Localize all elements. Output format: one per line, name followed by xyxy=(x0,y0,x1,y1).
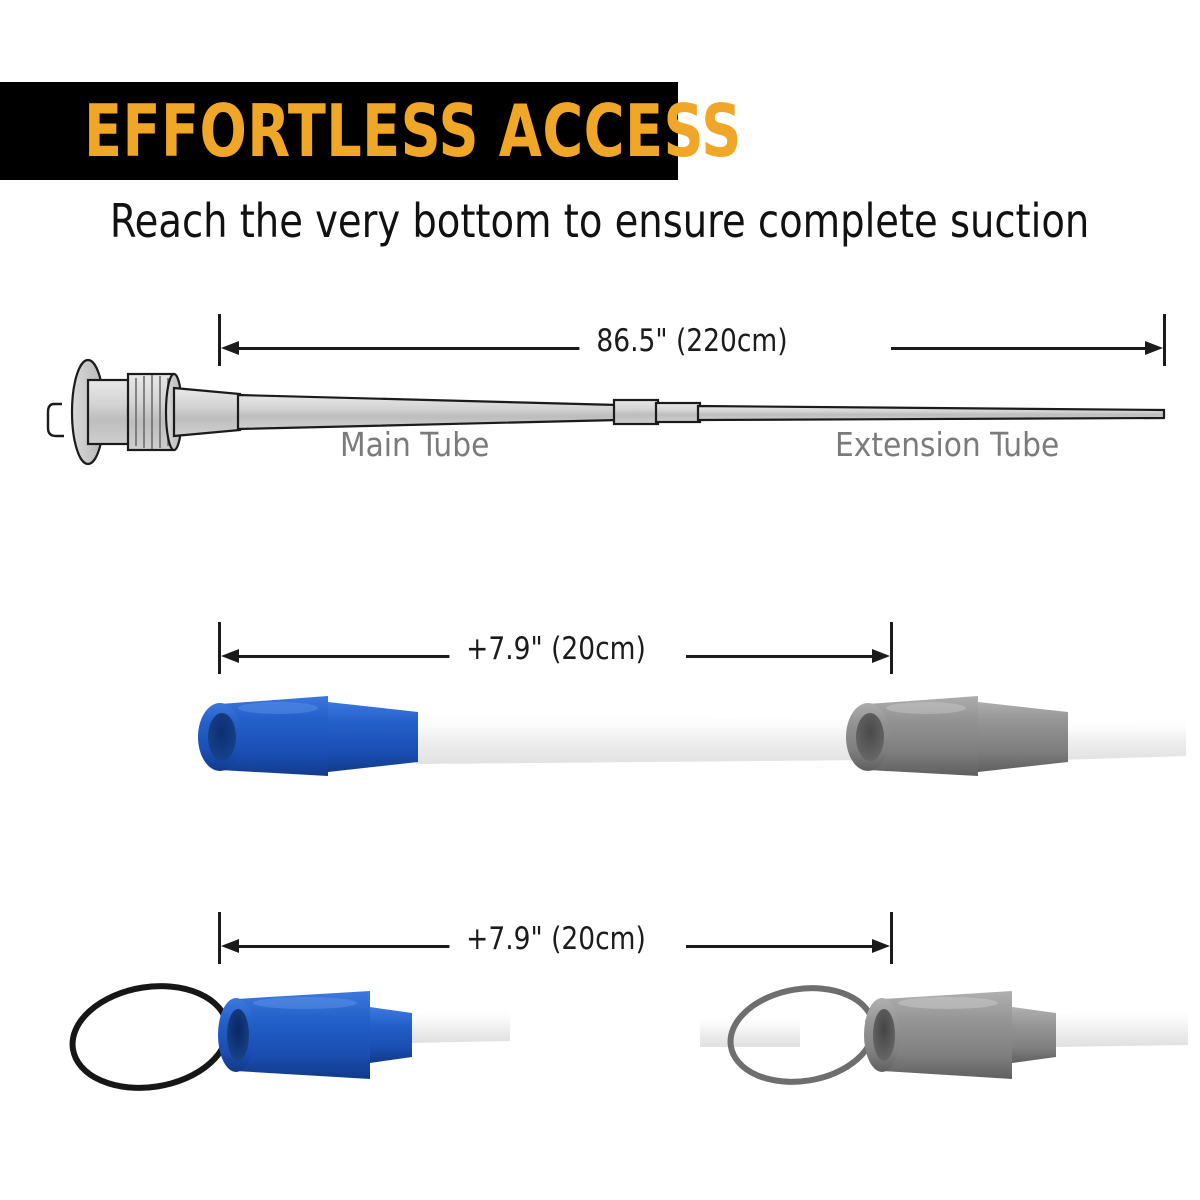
clear-flexible-hose-gray-left xyxy=(700,1017,800,1047)
extension-tube-rod xyxy=(698,406,1164,420)
clear-flexible-hose-right xyxy=(1058,720,1186,760)
blue-connector-neck xyxy=(370,1007,412,1063)
dimension-line-left xyxy=(233,655,463,658)
tube-coupling-step xyxy=(656,403,700,422)
label-extension-tube: Extension Tube xyxy=(835,425,1059,464)
infographic-canvas: EFFORTLESS ACCESS Reach the very bottom … xyxy=(0,0,1200,1200)
title-banner: EFFORTLESS ACCESS xyxy=(0,82,678,180)
connector-pair-illustration xyxy=(178,668,1188,823)
blue-hose-connector xyxy=(198,696,418,776)
subtitle-text: Reach the very bottom to ensure complete… xyxy=(110,194,1089,248)
label-main-tube: Main Tube xyxy=(340,425,489,464)
main-tube-rod xyxy=(238,395,618,429)
dimension-line-left xyxy=(233,347,633,350)
gray-specular-highlight xyxy=(898,997,998,1009)
dimension-line-right xyxy=(686,655,878,658)
dimension-line-left xyxy=(233,945,463,948)
gray-connector-bore xyxy=(856,713,884,761)
dimension-line-right xyxy=(686,945,878,948)
subtitle: Reach the very bottom to ensure complete… xyxy=(0,194,1200,248)
clear-flexible-hose-gray-right xyxy=(1052,1011,1188,1047)
gray-connector-neck xyxy=(978,702,1068,772)
clear-flexible-hose-blue-side xyxy=(408,1011,510,1043)
gray-connector-bore xyxy=(873,1009,895,1061)
blue-connector-bore xyxy=(208,713,236,761)
tube-coupling xyxy=(614,400,658,424)
gray-hose-connector-side xyxy=(864,991,1056,1079)
connector-pair-with-rings-illustration xyxy=(40,955,1190,1110)
dimension-line-right xyxy=(891,347,1151,350)
gray-specular-highlight xyxy=(886,702,966,714)
blue-hose-connector-side xyxy=(218,991,412,1079)
handle-hook-icon xyxy=(48,404,64,436)
blue-specular-highlight xyxy=(253,997,357,1009)
gray-hose-connector xyxy=(846,696,1068,776)
blue-specular-highlight xyxy=(238,702,318,714)
dimension-label-extension-b: +7.9" (20cm) xyxy=(449,922,662,956)
gray-connector-neck xyxy=(1012,1007,1056,1063)
blue-connector-neck xyxy=(328,702,418,772)
blue-connector-bore xyxy=(227,1009,249,1061)
clear-flexible-hose xyxy=(416,714,878,764)
dimension-label-extension-a: +7.9" (20cm) xyxy=(449,632,662,666)
banner-title: EFFORTLESS ACCESS xyxy=(84,95,742,167)
extension-line-right xyxy=(890,622,893,674)
handle-shoulder xyxy=(174,388,240,436)
